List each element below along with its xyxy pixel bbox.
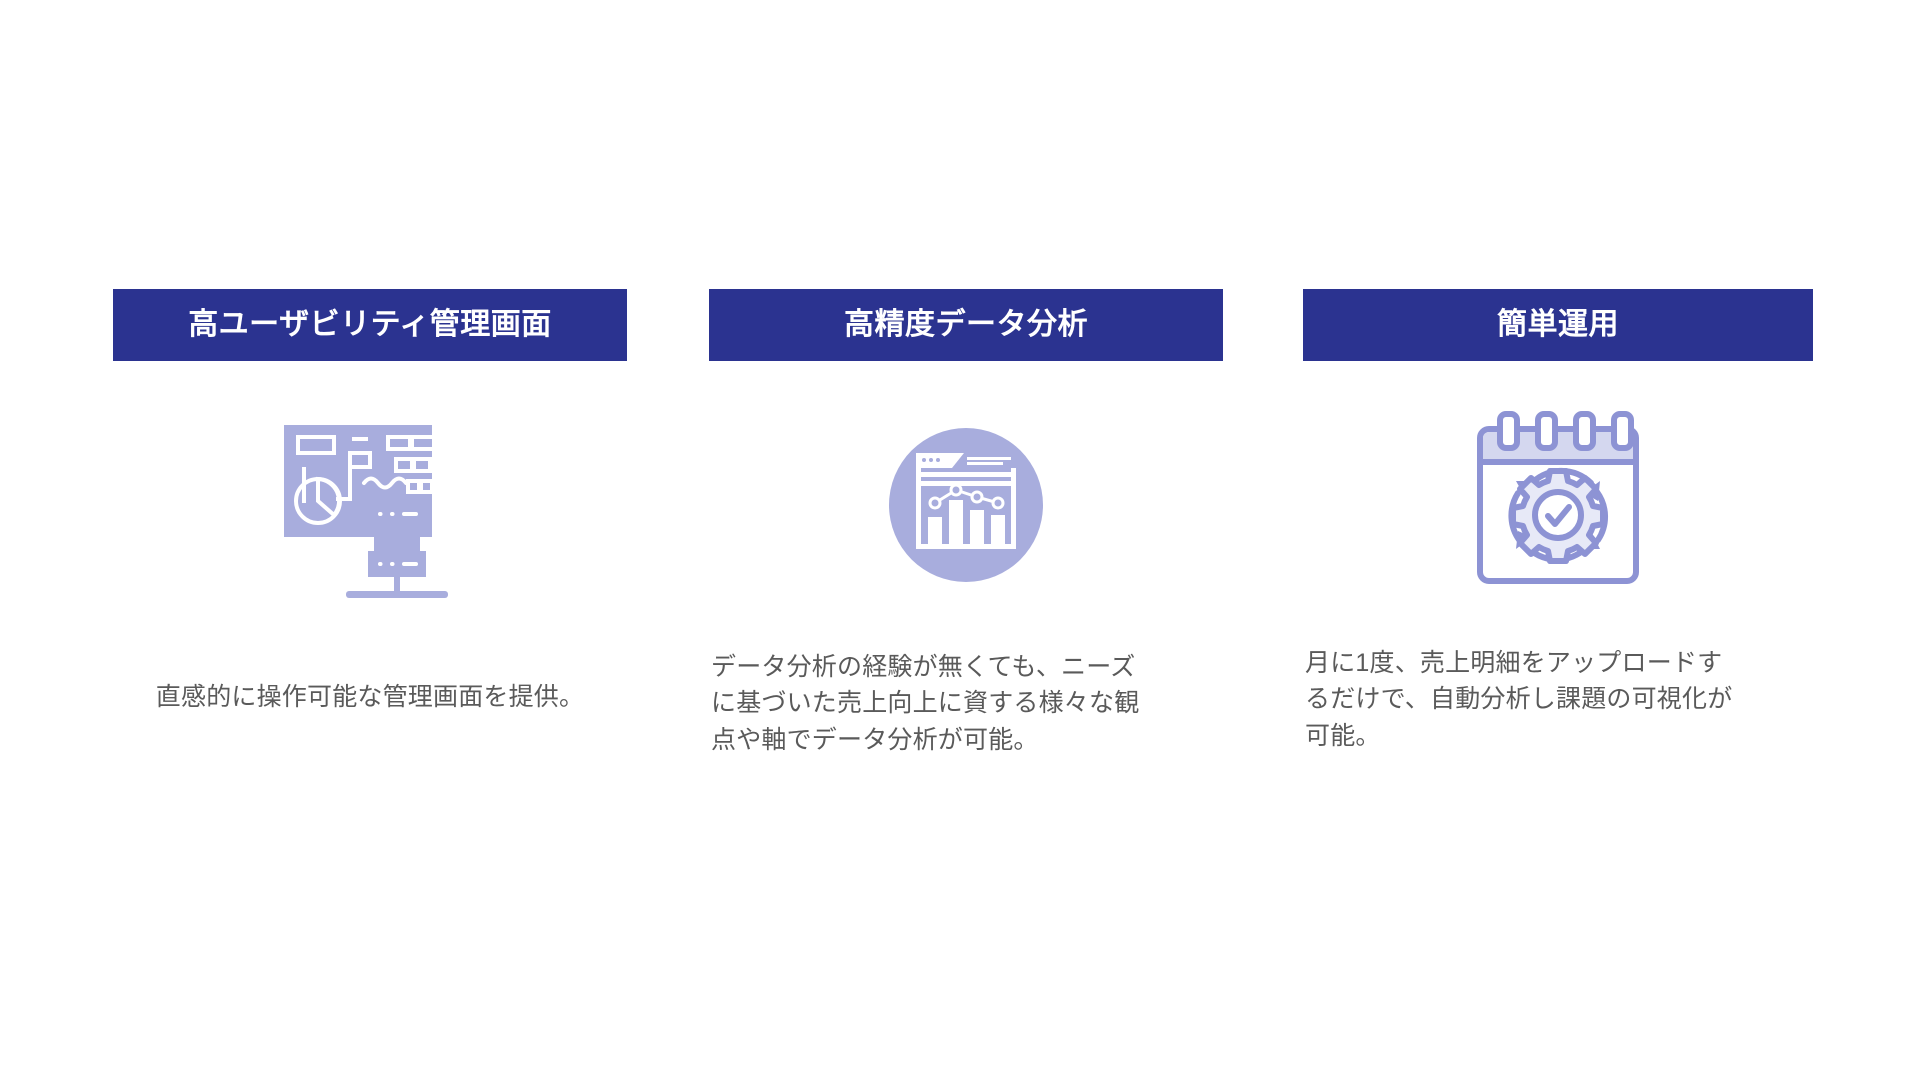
card-title-analytics: 高精度データ分析 (844, 310, 1088, 340)
feature-card-analytics: 高精度データ分析 (709, 289, 1223, 758)
feature-cards-board: 高ユーザビリティ管理画面 (0, 0, 1920, 1080)
card-description-usability: 直感的に操作可能な管理画面を提供。 (113, 679, 627, 715)
card-description-analytics: データ分析の経験が無くても、ニーズ に基づいた売上向上に資する様々な観 点や軸で… (709, 649, 1223, 758)
feature-card-operation: 簡単運用 (1303, 289, 1813, 754)
card-header-usability: 高ユーザビリティ管理画面 (113, 289, 627, 361)
card-header-analytics: 高精度データ分析 (709, 289, 1223, 361)
card-icon-area-usability (113, 391, 627, 631)
calendar-gear-refresh-icon (1458, 401, 1658, 601)
card-header-operation: 簡単運用 (1303, 289, 1813, 361)
analytics-chart-circle-icon (866, 405, 1066, 605)
card-icon-area-analytics (709, 385, 1223, 625)
dashboard-monitor-icon (270, 411, 470, 611)
feature-card-usability: 高ユーザビリティ管理画面 (113, 289, 627, 715)
card-icon-area-operation (1303, 381, 1813, 621)
card-title-usability: 高ユーザビリティ管理画面 (188, 310, 552, 340)
card-title-operation: 簡単運用 (1497, 310, 1619, 340)
card-description-operation: 月に1度、売上明細をアップロードす るだけで、自動分析し課題の可視化が 可能。 (1303, 645, 1813, 754)
